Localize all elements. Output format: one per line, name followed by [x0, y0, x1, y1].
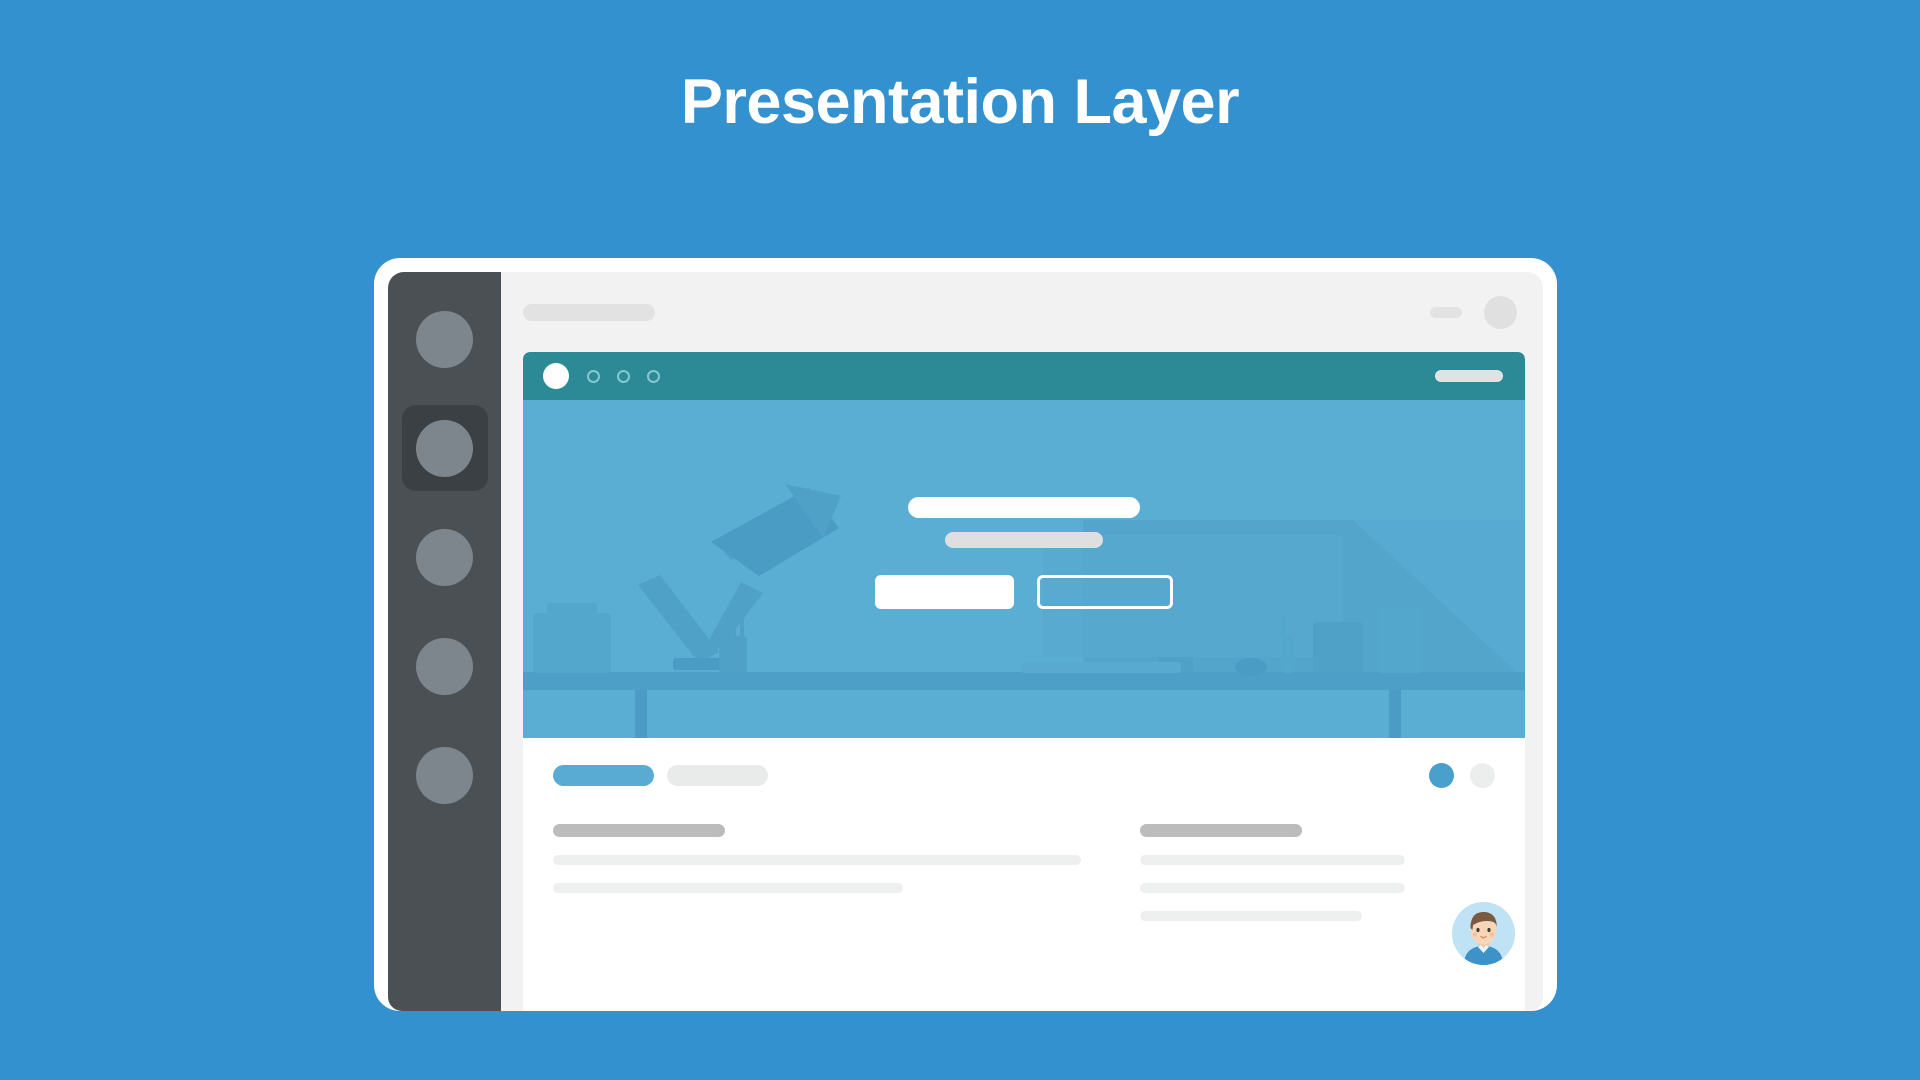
- content-column-right: [1140, 824, 1405, 921]
- content-column-left: [553, 824, 1033, 921]
- circle-icon: [416, 747, 473, 804]
- column-text-line: [1140, 855, 1405, 865]
- browser-tab-3[interactable]: [617, 370, 630, 383]
- circle-icon: [416, 638, 473, 695]
- column-heading-placeholder: [1140, 824, 1302, 837]
- content-pager: [1429, 763, 1495, 788]
- app-bar-controls: [1430, 296, 1517, 329]
- pager-dot-2[interactable]: [1470, 763, 1495, 788]
- app-bar-title-placeholder: [523, 304, 655, 321]
- circle-icon: [416, 420, 473, 477]
- browser-tab-active[interactable]: [543, 363, 569, 389]
- browser-tab-bar: [523, 352, 1525, 400]
- hero-content: [523, 400, 1525, 738]
- column-text-line: [1140, 911, 1362, 921]
- browser-tab-4[interactable]: [647, 370, 660, 383]
- browser-address-pill[interactable]: [1435, 370, 1503, 382]
- person-avatar-icon: [1452, 902, 1515, 965]
- column-heading-placeholder: [553, 824, 725, 837]
- content-tab-row: [553, 763, 1495, 788]
- device-frame: [374, 258, 1557, 1011]
- circle-icon: [416, 529, 473, 586]
- browser-tab-list: [587, 370, 660, 383]
- column-text-line: [1140, 883, 1405, 893]
- hero-section: [523, 400, 1525, 738]
- hero-primary-button[interactable]: [875, 575, 1014, 609]
- appbar-minimize-pill[interactable]: [1430, 307, 1462, 318]
- browser-window: [523, 352, 1525, 1011]
- device-screen: [388, 272, 1543, 1011]
- circle-icon: [416, 311, 473, 368]
- content-section: [523, 738, 1525, 1011]
- browser-tab-2[interactable]: [587, 370, 600, 383]
- hero-button-group: [875, 575, 1173, 609]
- app-area: [501, 272, 1543, 1011]
- user-avatar[interactable]: [1452, 902, 1515, 965]
- column-text-line: [553, 883, 903, 893]
- content-tab-1[interactable]: [553, 765, 654, 786]
- sidebar-item-2[interactable]: [402, 405, 488, 491]
- app-sidebar: [388, 272, 501, 1011]
- column-text-line: [553, 855, 1081, 865]
- sidebar-item-3[interactable]: [402, 514, 488, 600]
- page-title: Presentation Layer: [0, 68, 1920, 137]
- app-bar: [501, 272, 1543, 352]
- content-columns: [553, 824, 1495, 921]
- pager-dot-1[interactable]: [1429, 763, 1454, 788]
- hero-headline-placeholder: [908, 497, 1140, 518]
- appbar-account-circle[interactable]: [1484, 296, 1517, 329]
- content-tab-2[interactable]: [667, 765, 768, 786]
- hero-subtitle-placeholder: [945, 532, 1103, 548]
- sidebar-item-4[interactable]: [402, 623, 488, 709]
- hero-secondary-button[interactable]: [1037, 575, 1173, 609]
- sidebar-item-5[interactable]: [402, 732, 488, 818]
- sidebar-item-1[interactable]: [402, 296, 488, 382]
